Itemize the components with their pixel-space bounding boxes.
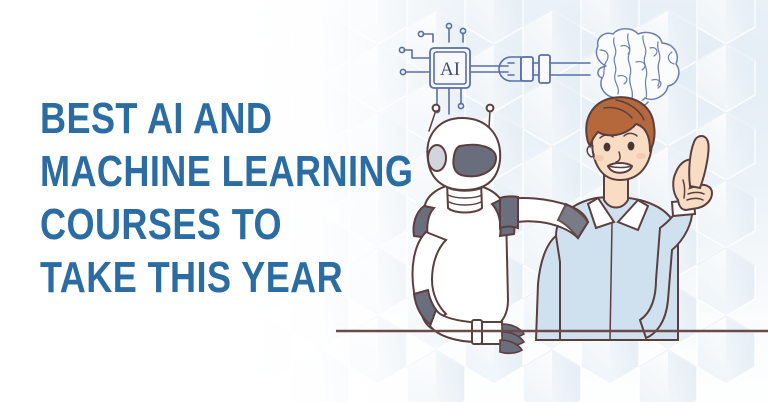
headline-line-3: COURSES TO [40, 198, 413, 251]
cable-plug-icon [499, 55, 590, 83]
headline-line-4: TAKE THIS YEAR [40, 251, 413, 304]
headline-line-2: MACHINE LEARNING [40, 145, 413, 198]
page-title: BEST AI AND MACHINE LEARNING COURSES TO … [40, 92, 495, 304]
ai-chip-label: AI [440, 59, 460, 80]
brain-icon [596, 29, 678, 106]
ai-courses-hero-banner: BEST AI AND MACHINE LEARNING COURSES TO … [0, 0, 768, 402]
headline-line-1: BEST AI AND [40, 92, 413, 145]
